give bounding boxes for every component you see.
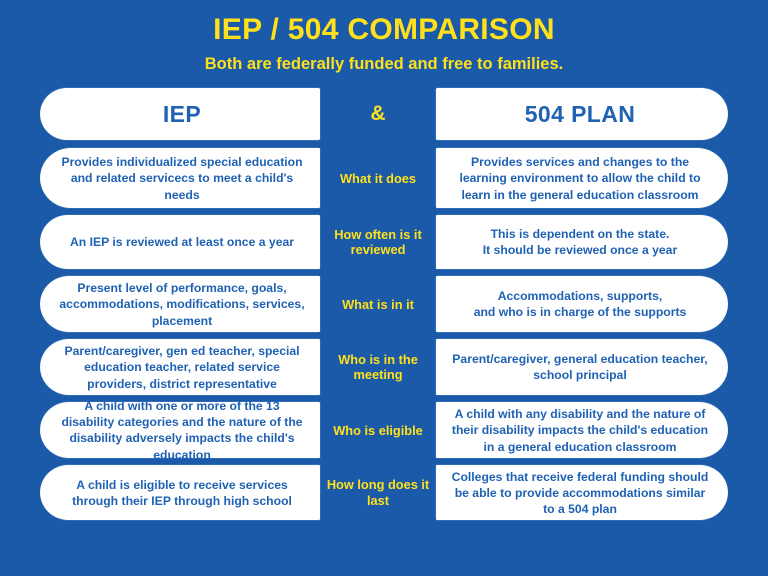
- column-header-ampersand: &: [321, 87, 435, 141]
- cell-iep-text: A child with one or more of the 13 disab…: [58, 398, 306, 463]
- row-label-text: Who is eligible: [333, 423, 423, 439]
- table-row: A child is eligible to receive services …: [40, 464, 728, 521]
- cell-504-text: Colleges that receive federal funding sh…: [450, 469, 710, 518]
- infographic-root: IEP / 504 COMPARISON Both are federally …: [0, 0, 768, 576]
- cell-504-text: Provides services and changes to the lea…: [450, 154, 710, 203]
- row-label-text: Who is in the meeting: [325, 352, 431, 383]
- column-header-iep-label: IEP: [163, 101, 201, 128]
- cell-504: A child with any disability and the natu…: [435, 401, 728, 459]
- row-label: Who is eligible: [321, 401, 435, 459]
- row-label-text: What it does: [340, 171, 416, 187]
- cell-iep-text: Present level of performance, goals, acc…: [58, 280, 306, 329]
- cell-iep: Parent/caregiver, gen ed teacher, specia…: [40, 338, 321, 396]
- row-label-text: How often is it reviewed: [325, 227, 431, 258]
- cell-iep-text: Provides individualized special educatio…: [58, 154, 306, 203]
- cell-504: Accommodations, supports, and who is in …: [435, 275, 728, 333]
- row-label: What is in it: [321, 275, 435, 333]
- cell-504: Colleges that receive federal funding sh…: [435, 464, 728, 521]
- row-label: Who is in the meeting: [321, 338, 435, 396]
- cell-504-text: Accommodations, supports, and who is in …: [474, 288, 687, 320]
- cell-504-text: This is dependent on the state. It shoul…: [483, 226, 677, 258]
- cell-504: Provides services and changes to the lea…: [435, 147, 728, 209]
- cell-504: Parent/caregiver, general education teac…: [435, 338, 728, 396]
- cell-iep-text: An IEP is reviewed at least once a year: [70, 234, 294, 250]
- table-row: A child with one or more of the 13 disab…: [40, 401, 728, 459]
- cell-504-text: Parent/caregiver, general education teac…: [450, 351, 710, 383]
- column-header-504: 504 PLAN: [435, 87, 728, 141]
- table-row: Provides individualized special educatio…: [40, 147, 728, 209]
- row-label-text: How long does it last: [325, 477, 431, 508]
- row-label: How often is it reviewed: [321, 214, 435, 270]
- table-row: Parent/caregiver, gen ed teacher, specia…: [40, 338, 728, 396]
- cell-iep: A child is eligible to receive services …: [40, 464, 321, 521]
- cell-iep: A child with one or more of the 13 disab…: [40, 401, 321, 459]
- column-header-iep: IEP: [40, 87, 321, 141]
- header-block: IEP / 504 COMPARISON Both are federally …: [0, 0, 768, 74]
- comparison-table: IEP & 504 PLAN Provides individualized s…: [0, 87, 768, 521]
- ampersand-label: &: [370, 102, 385, 126]
- row-label: How long does it last: [321, 464, 435, 521]
- column-header-504-label: 504 PLAN: [525, 101, 636, 128]
- cell-iep: Provides individualized special educatio…: [40, 147, 321, 209]
- cell-iep-text: A child is eligible to receive services …: [58, 477, 306, 509]
- cell-iep-text: Parent/caregiver, gen ed teacher, specia…: [58, 343, 306, 392]
- table-header-row: IEP & 504 PLAN: [40, 87, 728, 141]
- cell-504-text: A child with any disability and the natu…: [450, 406, 710, 455]
- table-row: An IEP is reviewed at least once a year …: [40, 214, 728, 270]
- cell-iep: An IEP is reviewed at least once a year: [40, 214, 321, 270]
- page-title: IEP / 504 COMPARISON: [0, 13, 768, 47]
- table-row: Present level of performance, goals, acc…: [40, 275, 728, 333]
- row-label-text: What is in it: [342, 297, 414, 313]
- cell-iep: Present level of performance, goals, acc…: [40, 275, 321, 333]
- row-label: What it does: [321, 147, 435, 209]
- cell-504: This is dependent on the state. It shoul…: [435, 214, 728, 270]
- page-subtitle: Both are federally funded and free to fa…: [0, 55, 768, 75]
